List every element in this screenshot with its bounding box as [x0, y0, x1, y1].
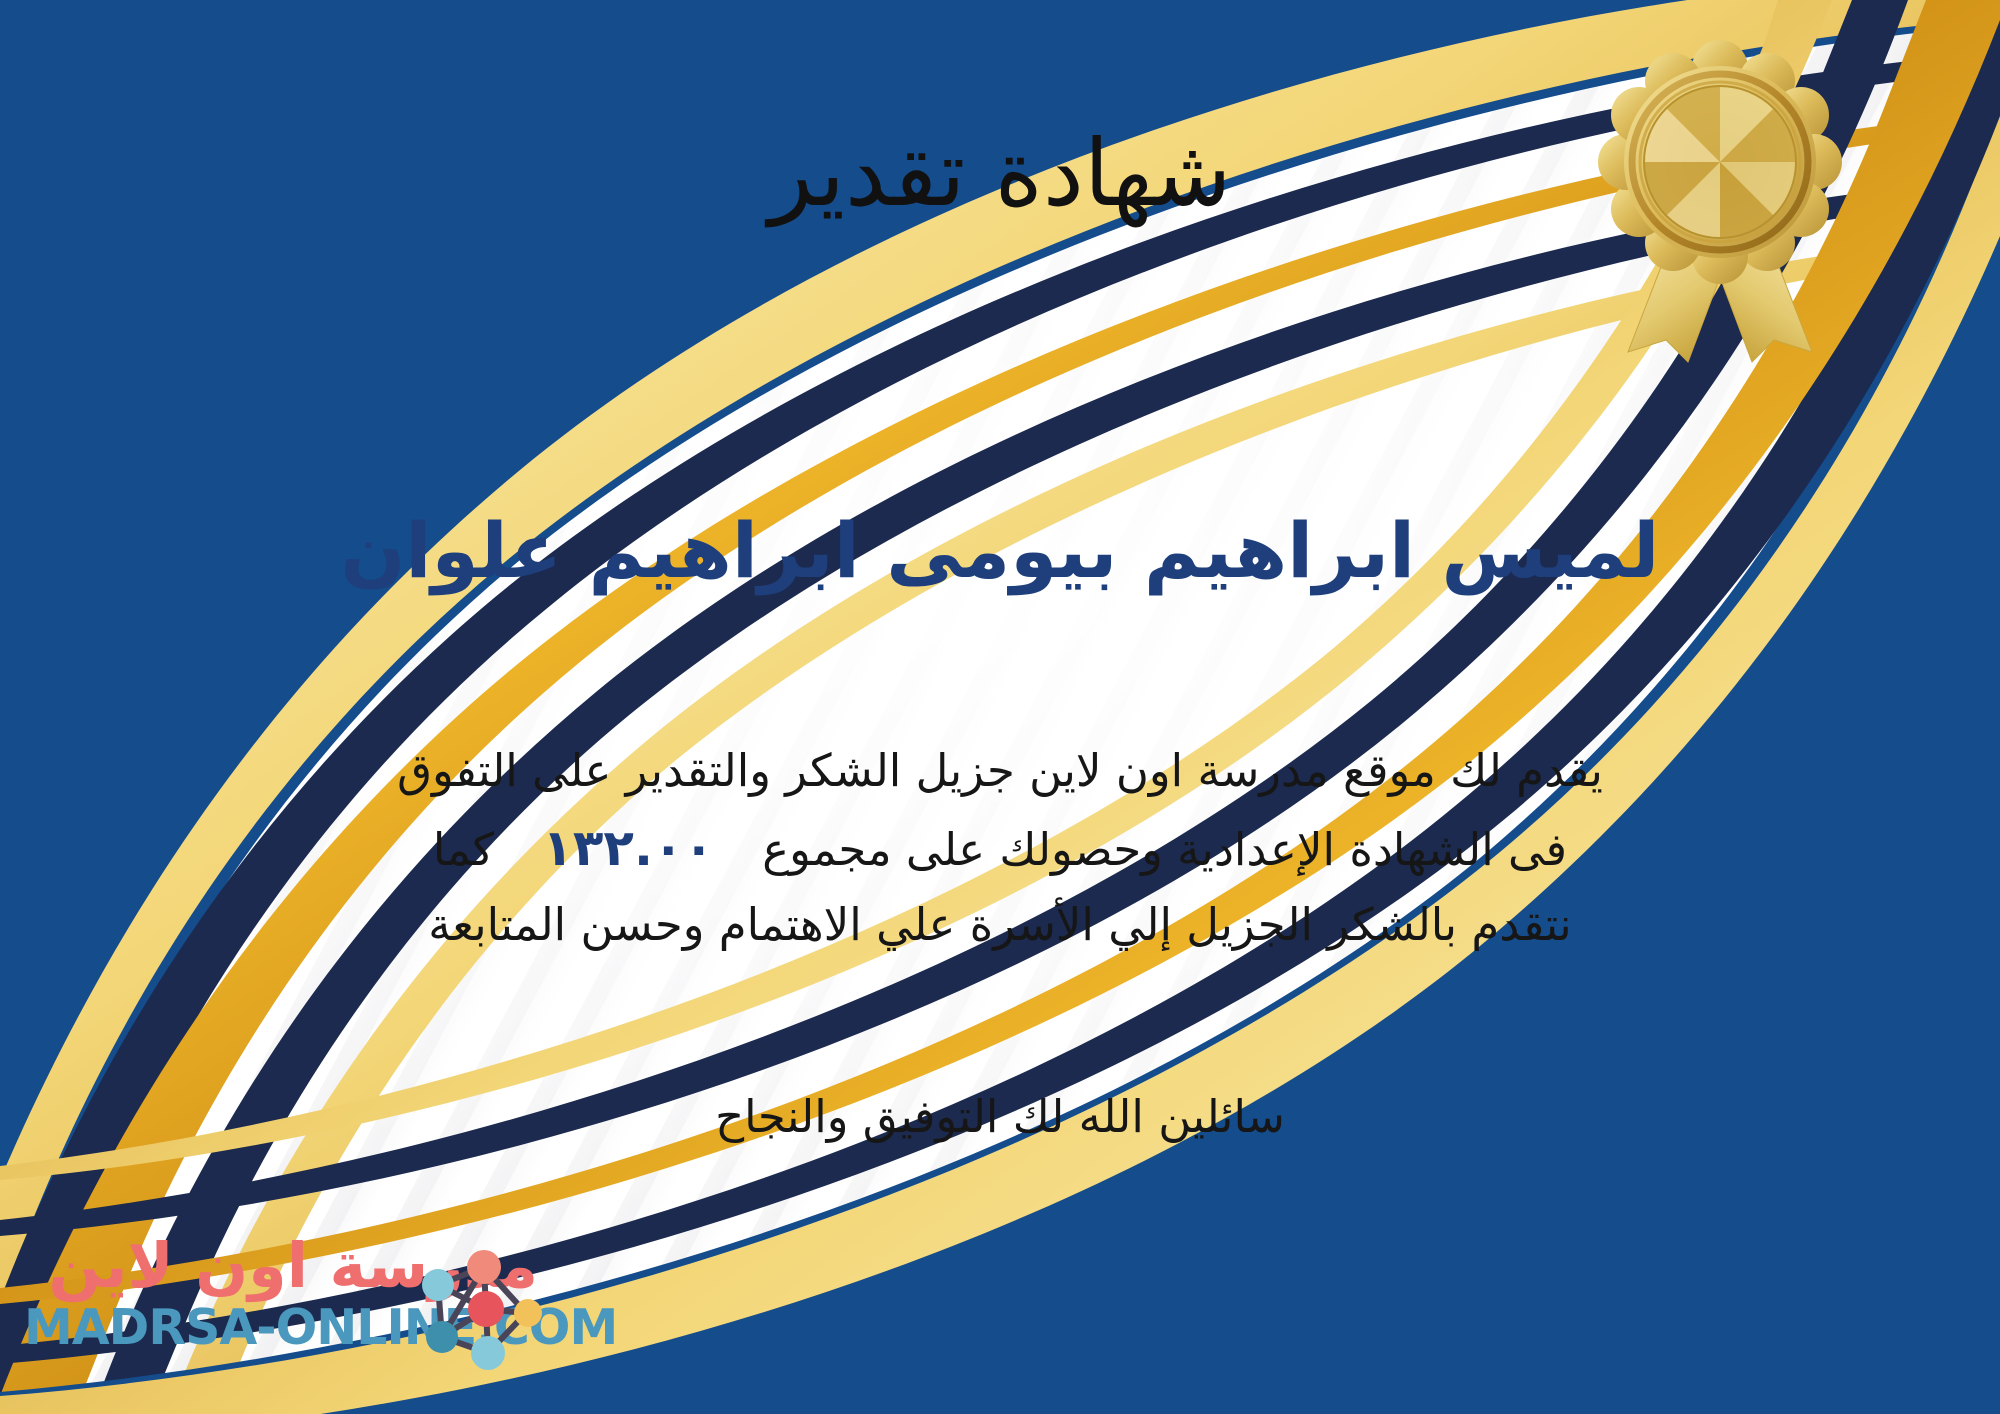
body-line-1: يقدم لك موقع مدرسة اون لاين جزيل الشكر و…	[60, 735, 1940, 808]
closing-line: سائلين الله لك التوفيق والنجاح	[0, 1090, 2000, 1143]
body-line-3: نتقدم بالشكر الجزيل إلي الأسرة علي الاهت…	[60, 889, 1940, 962]
score-value: ١٣٢.٠٠	[508, 819, 748, 877]
body-line-2-left: كما	[433, 823, 494, 876]
body-line-2: فى الشهادة الإعدادية وحصولك على مجموع ١٣…	[60, 808, 1940, 889]
recipient-name: لميس ابراهيم بيومى ابراهيم علوان	[0, 505, 2000, 596]
network-graph-icon	[416, 1241, 544, 1373]
certificate-title: شهادة تقدير	[0, 120, 2000, 229]
certificate-content: شهادة تقدير لميس ابراهيم بيومى ابراهيم ع…	[0, 0, 2000, 1414]
certificate-body: يقدم لك موقع مدرسة اون لاين جزيل الشكر و…	[60, 735, 1940, 962]
brand-logo[interactable]: مدرسة اون لاين MADRSA-ONLINE.COM	[24, 1233, 544, 1398]
certificate-canvas: شهادة تقدير لميس ابراهيم بيومى ابراهيم ع…	[0, 0, 2000, 1414]
body-line-2-right: فى الشهادة الإعدادية وحصولك على مجموع	[762, 823, 1567, 876]
